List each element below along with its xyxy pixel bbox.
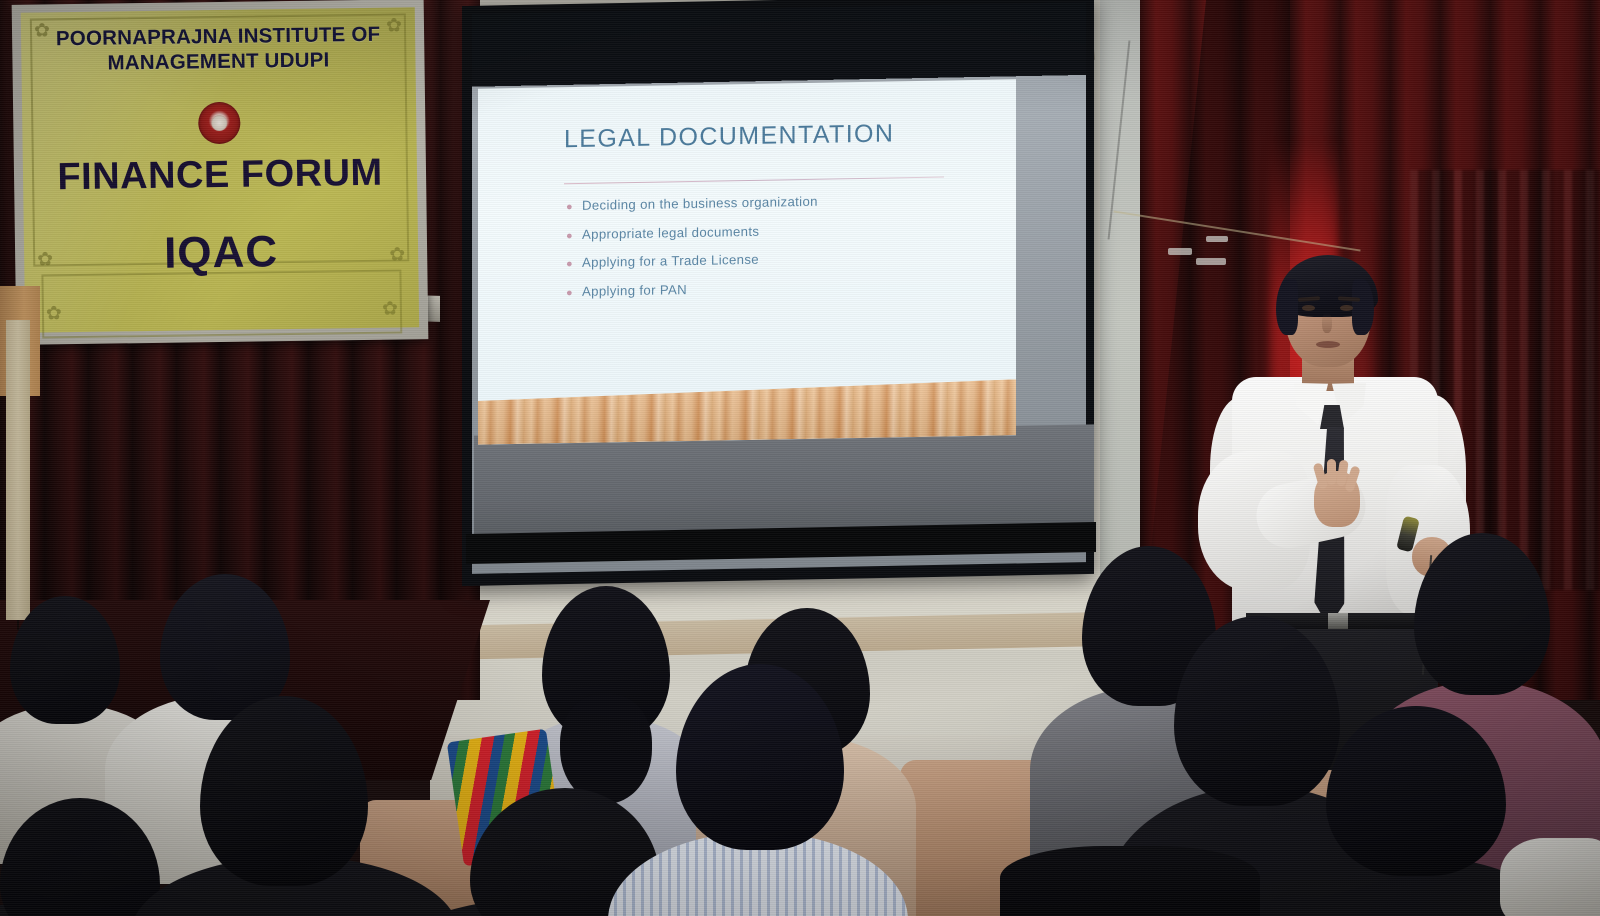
curtain-hook-1: [1168, 248, 1192, 255]
slide-bullet-text: Applying for PAN: [582, 283, 687, 299]
wooden-post-body: [6, 320, 30, 620]
presenter-hair-side-left: [1276, 279, 1298, 335]
audience-white-sleeve: [1500, 838, 1600, 916]
presenter-eye-left: [1302, 305, 1315, 311]
banner-institute-name: POORNAPRAJNA INSTITUTE OF MANAGEMENT UDU…: [12, 21, 425, 77]
presenter-mouth: [1316, 341, 1340, 348]
presentation-hall-photo: ✿ ✿ ✿ ✿ ✿ ✿ POORNAPRAJNA INSTITUTE OF MA…: [0, 0, 1600, 916]
slide-bullet-text: Applying for a Trade License: [582, 253, 759, 271]
list-item: ● Applying for a Trade License: [566, 249, 996, 271]
event-banner: ✿ ✿ ✿ ✿ ✿ ✿ POORNAPRAJNA INSTITUTE OF MA…: [12, 0, 429, 345]
presenter-finger: [1327, 459, 1336, 485]
audience-foreground-silhouette: [1000, 846, 1260, 916]
presenter-belt-buckle: [1328, 613, 1348, 629]
presenter-left-hand: [1314, 471, 1360, 527]
list-item: ● Deciding on the business organization: [566, 192, 996, 214]
banner-iqac-label: IQAC: [15, 225, 428, 281]
slide-divider-rule: [564, 177, 944, 185]
projected-slide: LEGAL DOCUMENTATION ● Deciding on the bu…: [478, 79, 1016, 444]
slide-bullet-list: ● Deciding on the business organization …: [566, 192, 996, 314]
curtain-hook-3: [1206, 236, 1228, 242]
bullet-marker-icon: ●: [566, 259, 582, 270]
banner-event-title: FINANCE FORUM: [14, 151, 427, 200]
bullet-marker-icon: ●: [566, 202, 582, 213]
presenter-nose: [1322, 313, 1332, 333]
banner-ornament-lower-r: ✿: [382, 300, 398, 319]
slide-wooden-floor-image: [478, 379, 1016, 444]
slide-title: LEGAL DOCUMENTATION: [564, 119, 894, 154]
bullet-marker-icon: ●: [566, 230, 582, 241]
presenter-eye-right: [1340, 305, 1353, 311]
slide-bullet-text: Appropriate legal documents: [582, 224, 759, 242]
list-item: ● Appropriate legal documents: [566, 220, 996, 242]
banner-lower-frame: [41, 269, 402, 338]
slide-bullet-text: Deciding on the business organization: [582, 195, 818, 214]
bullet-marker-icon: ●: [566, 287, 582, 298]
list-item: ● Applying for PAN: [566, 277, 996, 299]
banner-ornament-lower-l: ✿: [46, 304, 62, 323]
